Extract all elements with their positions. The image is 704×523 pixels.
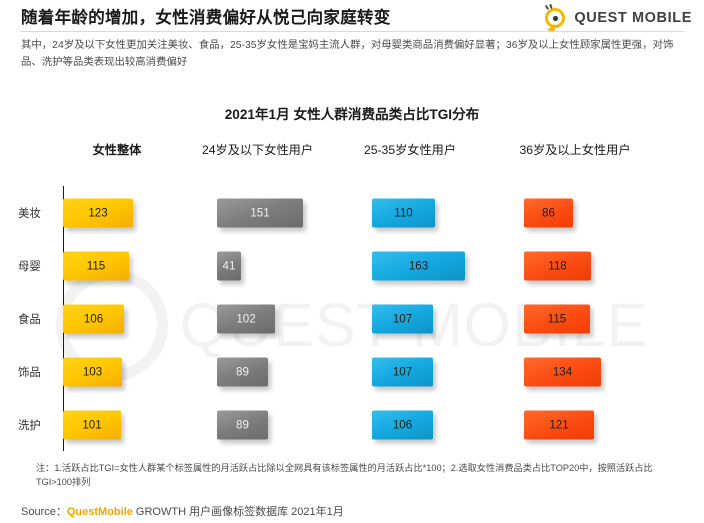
header-divider (20, 31, 684, 32)
bar-25to35-accessory[interactable]: 107 (372, 357, 433, 386)
row-label-shipin: 食品 (18, 311, 41, 327)
bar-female-overall-accessory[interactable]: 103 (63, 357, 122, 386)
bar-25to35-muying[interactable]: 163 (372, 251, 465, 280)
chart-plot-area: 美妆 123 151 110 86 母婴 115 41 163 118 食品 1… (0, 186, 704, 451)
table-row: 美妆 123 151 110 86 (0, 186, 704, 239)
bar-36plus-meizhuang[interactable]: 86 (524, 198, 573, 227)
source-rest: GROWTH 用户画像标签数据库 2021年1月 (133, 506, 344, 518)
source-prefix: Source： (21, 506, 67, 518)
row-label-meizhuang: 美妆 (18, 205, 41, 221)
bar-female-overall-muying[interactable]: 115 (63, 251, 129, 280)
column-header-under-24: 24岁及以下女性用户 (180, 140, 335, 158)
slide-root: QUEST MOBILE 随着年龄的增加，女性消费偏好从悦己向家庭转变 QUES… (0, 0, 704, 523)
column-header-25-35: 25-35岁女性用户 (335, 140, 485, 158)
footnote: 注：1.活跃占比TGI=女性人群某个标签属性的月活跃占比除以全网具有该标签属性的… (36, 461, 680, 489)
row-label-shipin-accessory: 饰品 (18, 364, 41, 380)
source-brand: QuestMobile (67, 506, 133, 518)
bar-under24-xihu[interactable]: 89 (217, 410, 268, 439)
brand-name: QUEST MOBILE (574, 10, 692, 26)
bar-under24-muying[interactable]: 41 (217, 251, 241, 280)
bar-36plus-muying[interactable]: 118 (524, 251, 591, 280)
bar-female-overall-meizhuang[interactable]: 123 (63, 198, 133, 227)
row-label-xihu: 洗护 (18, 417, 41, 433)
bar-25to35-shipin[interactable]: 107 (372, 304, 433, 333)
chart-title: 2021年1月 女性人群消费品类占比TGI分布 (0, 103, 704, 123)
bar-under24-shipin[interactable]: 102 (217, 304, 275, 333)
subtitle-text: 其中，24岁及以下女性更加关注美妆、食品，25-35岁女性是宝妈主流人群，对母婴… (21, 38, 683, 71)
page-title: 随着年龄的增加，女性消费偏好从悦己向家庭转变 (21, 4, 391, 28)
bar-25to35-meizhuang[interactable]: 110 (372, 198, 435, 227)
bar-36plus-xihu[interactable]: 121 (524, 410, 594, 439)
table-row: 洗护 101 89 106 121 (0, 398, 704, 451)
table-row: 饰品 103 89 107 134 (0, 345, 704, 398)
header: 随着年龄的增加，女性消费偏好从悦己向家庭转变 QUEST MOBILE (0, 0, 704, 31)
column-header-36-plus: 36岁及以上女性用户 (490, 140, 660, 158)
column-header-female-overall: 女性整体 (63, 140, 171, 158)
source-line: Source：QuestMobile GROWTH 用户画像标签数据库 2021… (21, 503, 344, 519)
bar-36plus-accessory[interactable]: 134 (524, 357, 601, 386)
bar-under24-meizhuang[interactable]: 151 (217, 198, 303, 227)
chart-column-headers: 女性整体 24岁及以下女性用户 25-35岁女性用户 36岁及以上女性用户 (0, 140, 704, 158)
table-row: 食品 106 102 107 115 (0, 292, 704, 345)
bar-under24-accessory[interactable]: 89 (217, 357, 268, 386)
questmobile-logo-icon (543, 5, 568, 30)
row-label-muying: 母婴 (18, 258, 41, 274)
bar-female-overall-xihu[interactable]: 101 (63, 410, 121, 439)
bar-25to35-xihu[interactable]: 106 (372, 410, 433, 439)
table-row: 母婴 115 41 163 118 (0, 239, 704, 292)
brand-logo: QUEST MOBILE (543, 5, 692, 30)
bar-36plus-shipin[interactable]: 115 (524, 304, 590, 333)
bar-female-overall-shipin[interactable]: 106 (63, 304, 124, 333)
